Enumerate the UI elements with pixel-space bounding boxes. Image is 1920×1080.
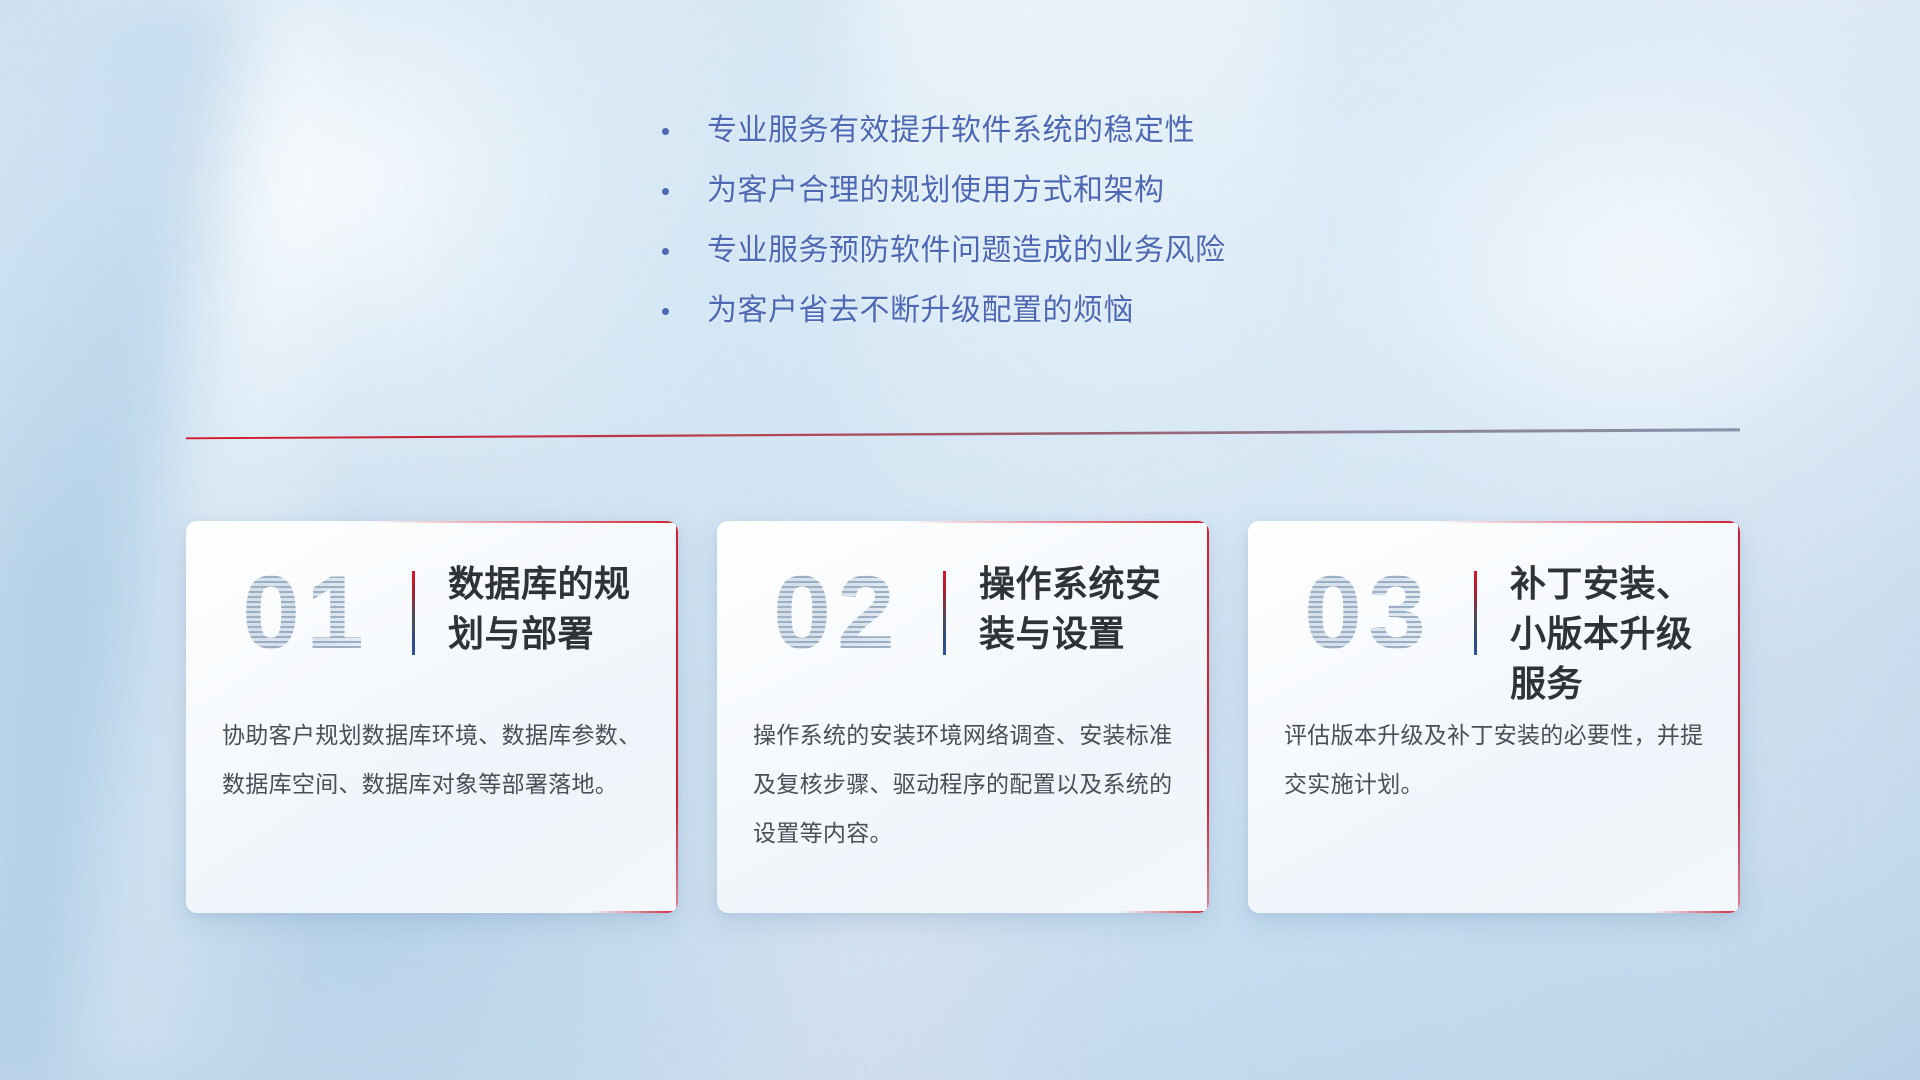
card-header: 03 补丁安装、小版本升级服务	[1248, 547, 1740, 677]
bullet-dot-icon	[662, 248, 669, 255]
bullet-dot-icon	[662, 308, 669, 315]
bullet-item-label: 为客户省去不断升级配置的烦恼	[707, 292, 1562, 330]
card-title-rule	[943, 571, 946, 655]
bullet-item-label: 专业服务预防软件问题造成的业务风险	[707, 232, 1562, 270]
bullet-item-label: 为客户合理的规划使用方式和架构	[707, 172, 1562, 210]
service-card[interactable]: 03 补丁安装、小版本升级服务 评估版本升级及补丁安装的必要性，并提交实施计划。	[1248, 521, 1740, 913]
service-card[interactable]: 01 数据库的规划与部署 协助客户规划数据库环境、数据库参数、数据库空间、数据库…	[186, 521, 678, 913]
service-card-list: 01 数据库的规划与部署 协助客户规划数据库环境、数据库参数、数据库空间、数据库…	[186, 521, 1740, 921]
bullet-dot-icon	[662, 188, 669, 195]
card-header: 02 操作系统安装与设置	[717, 547, 1209, 677]
benefits-bullet-list: 专业服务有效提升软件系统的稳定性 为客户合理的规划使用方式和架构 专业服务预防软…	[662, 112, 1562, 352]
card-body-text: 评估版本升级及补丁安装的必要性，并提交实施计划。	[1284, 711, 1710, 809]
card-title: 操作系统安装与设置	[979, 559, 1187, 659]
bullet-item-label: 专业服务有效提升软件系统的稳定性	[707, 112, 1562, 150]
card-number-decoration: 03	[1278, 553, 1458, 673]
card-body-text: 操作系统的安装环境网络调查、安装标准及复核步骤、驱动程序的配置以及系统的设置等内…	[753, 711, 1179, 858]
bullet-item: 为客户合理的规划使用方式和架构	[662, 172, 1562, 210]
card-title-rule	[412, 571, 415, 655]
card-title: 补丁安装、小版本升级服务	[1510, 559, 1718, 709]
card-accent-bottom	[1120, 911, 1209, 913]
card-accent-top	[373, 521, 678, 523]
card-accent-bottom	[1651, 911, 1740, 913]
bullet-dot-icon	[662, 128, 669, 135]
card-number-label: 03	[1304, 554, 1432, 673]
section-divider	[186, 428, 1740, 440]
card-body-text: 协助客户规划数据库环境、数据库参数、数据库空间、数据库对象等部署落地。	[222, 711, 648, 809]
card-number-decoration: 02	[747, 553, 927, 673]
card-header: 01 数据库的规划与部署	[186, 547, 678, 677]
bullet-item: 专业服务预防软件问题造成的业务风险	[662, 232, 1562, 270]
card-accent-bottom	[589, 911, 678, 913]
service-card[interactable]: 02 操作系统安装与设置 操作系统的安装环境网络调查、安装标准及复核步骤、驱动程…	[717, 521, 1209, 913]
card-number-label: 02	[773, 554, 901, 673]
bullet-item: 为客户省去不断升级配置的烦恼	[662, 292, 1562, 330]
card-title-rule	[1474, 571, 1477, 655]
card-accent-top	[1435, 521, 1740, 523]
slide-content: 专业服务有效提升软件系统的稳定性 为客户合理的规划使用方式和架构 专业服务预防软…	[0, 0, 1920, 1080]
card-number-decoration: 01	[216, 553, 396, 673]
card-accent-top	[904, 521, 1209, 523]
divider-shape-icon	[186, 428, 1740, 440]
card-title: 数据库的规划与部署	[448, 559, 656, 659]
card-number-label: 01	[242, 554, 370, 673]
bullet-item: 专业服务有效提升软件系统的稳定性	[662, 112, 1562, 150]
